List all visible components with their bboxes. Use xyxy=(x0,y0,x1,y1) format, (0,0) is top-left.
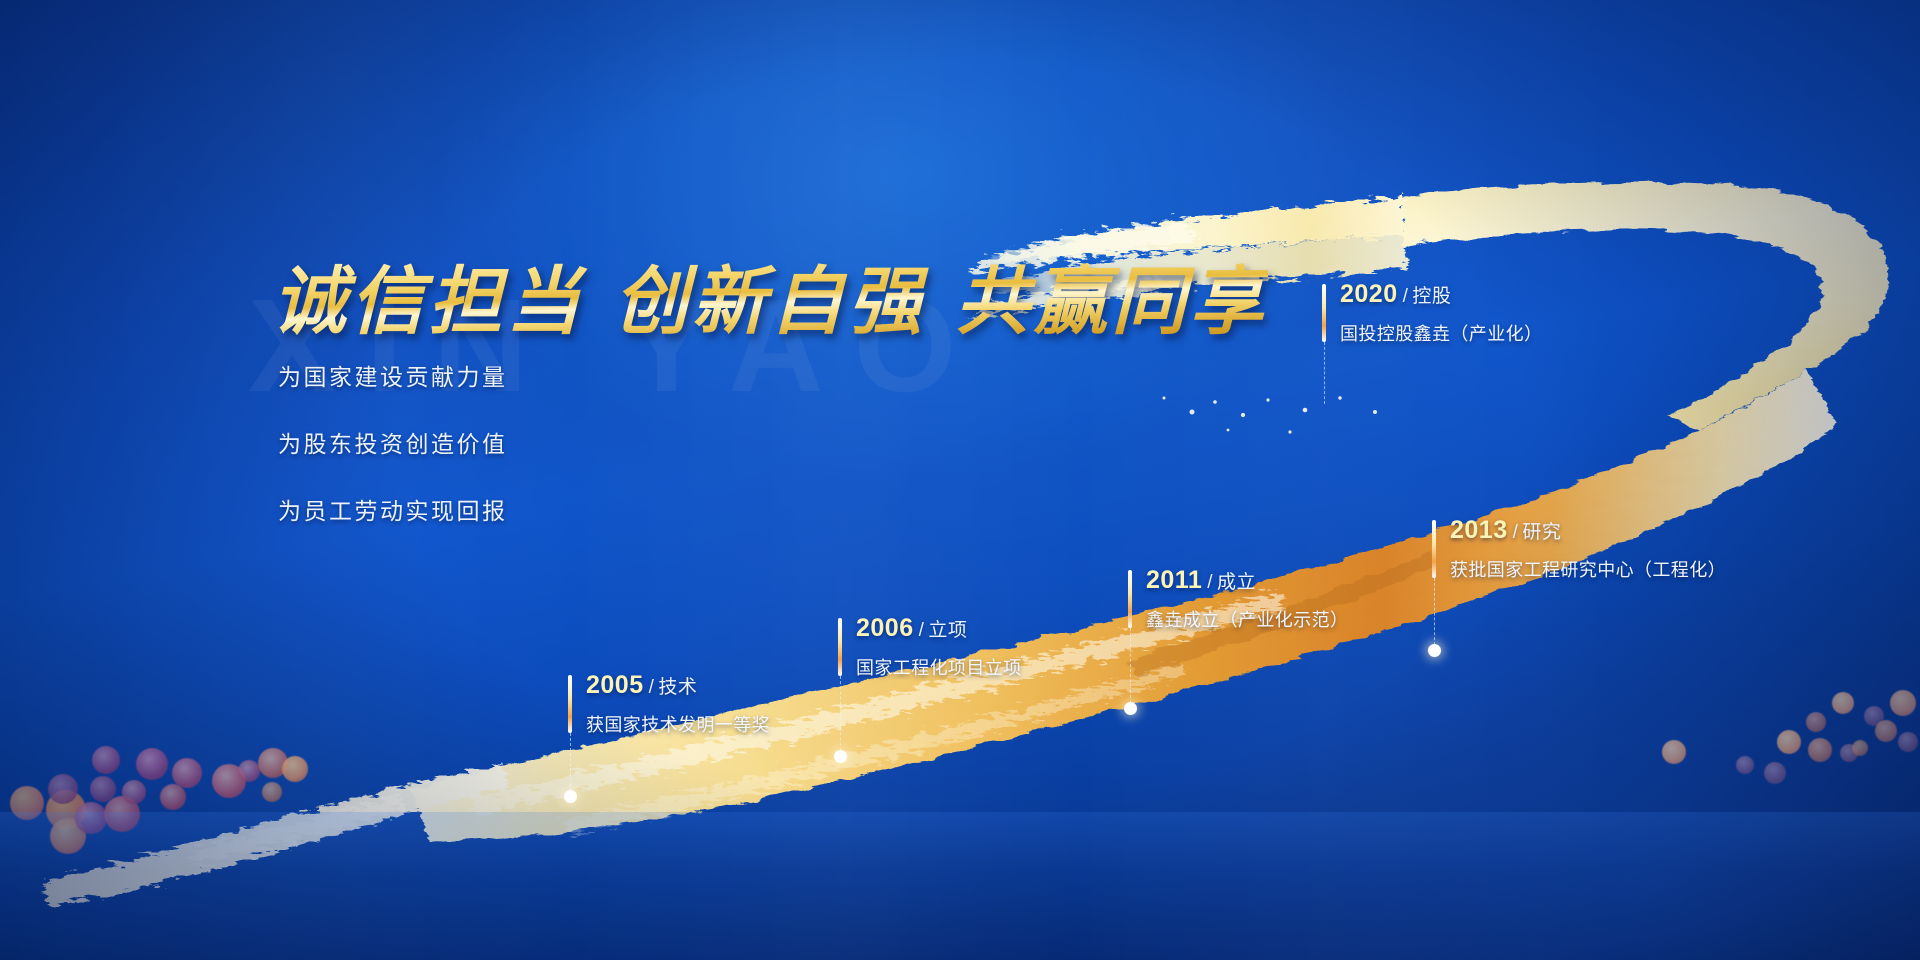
milestone-year: 2005 xyxy=(586,671,644,699)
milestone-description: 获国家技术发明一等奖 xyxy=(586,711,770,737)
milestone-dot-2005[interactable] xyxy=(564,790,577,803)
milestone-category: 成立 xyxy=(1217,572,1256,593)
milestone-category: 研究 xyxy=(1522,522,1561,543)
milestone-bar-icon xyxy=(838,618,842,676)
hero-subtitle-line: 为股东投资创造价值 xyxy=(278,425,508,459)
milestone-description: 获批国家工程研究中心（工程化） xyxy=(1450,556,1726,582)
milestone-dot-2006[interactable] xyxy=(834,750,847,763)
milestone-separator: / xyxy=(649,677,655,698)
milestone-year-row: 2013/研究 xyxy=(1450,516,1561,545)
milestone-category: 控股 xyxy=(1412,286,1451,307)
hero-subtitle-list: 为国家建设贡献力量 为股东投资创造价值 为员工劳动实现回报 xyxy=(278,358,508,559)
milestone-bar-icon xyxy=(1432,520,1436,578)
milestone-separator: / xyxy=(1513,522,1519,543)
milestone-description: 国投控股鑫垚（产业化） xyxy=(1340,320,1542,346)
milestone-category: 立项 xyxy=(928,620,967,641)
milestone-category: 技术 xyxy=(658,677,697,698)
milestone-separator: / xyxy=(1403,286,1409,307)
milestone-year: 2011 xyxy=(1146,566,1202,594)
milestone-separator: / xyxy=(1207,572,1213,593)
milestone-leader-line-2011 xyxy=(1130,628,1131,708)
milestone-description: 国家工程化项目立项 xyxy=(856,654,1022,680)
hero-subtitle-line: 为国家建设贡献力量 xyxy=(278,358,508,392)
milestone-bar-icon xyxy=(1128,570,1132,628)
hero-subtitle-line: 为员工劳动实现回报 xyxy=(278,492,508,526)
poster-canvas: XIN YAO 诚信担当 创新自强 共赢同享 为国家建设贡献力量 为股东投资创造… xyxy=(0,0,1920,960)
milestone-year-row: 2020/控股 xyxy=(1340,280,1451,309)
milestone-year-row: 2005/技术 xyxy=(586,671,697,700)
milestone-dot-2013[interactable] xyxy=(1428,644,1441,657)
milestone-separator: / xyxy=(919,620,925,641)
background-bottom-band xyxy=(0,812,1920,960)
milestone-leader-line-2013 xyxy=(1434,578,1435,650)
milestone-bar-icon xyxy=(1322,284,1326,342)
milestone-year: 2013 xyxy=(1450,516,1508,544)
milestone-description: 鑫垚成立（产业化示范） xyxy=(1146,606,1348,632)
milestone-year-row: 2006/立项 xyxy=(856,614,967,643)
milestone-leader-line-2020 xyxy=(1324,342,1325,404)
milestone-dot-2011[interactable] xyxy=(1124,702,1137,715)
milestone-year-row: 2011/成立 xyxy=(1146,566,1256,595)
milestone-bar-icon xyxy=(568,675,572,733)
milestone-year: 2020 xyxy=(1340,280,1398,308)
page-title: 诚信担当 创新自强 共赢同享 xyxy=(272,242,1268,349)
milestone-year: 2006 xyxy=(856,614,914,642)
milestone-leader-line-2006 xyxy=(840,676,841,756)
milestone-leader-line-2005 xyxy=(570,733,571,796)
